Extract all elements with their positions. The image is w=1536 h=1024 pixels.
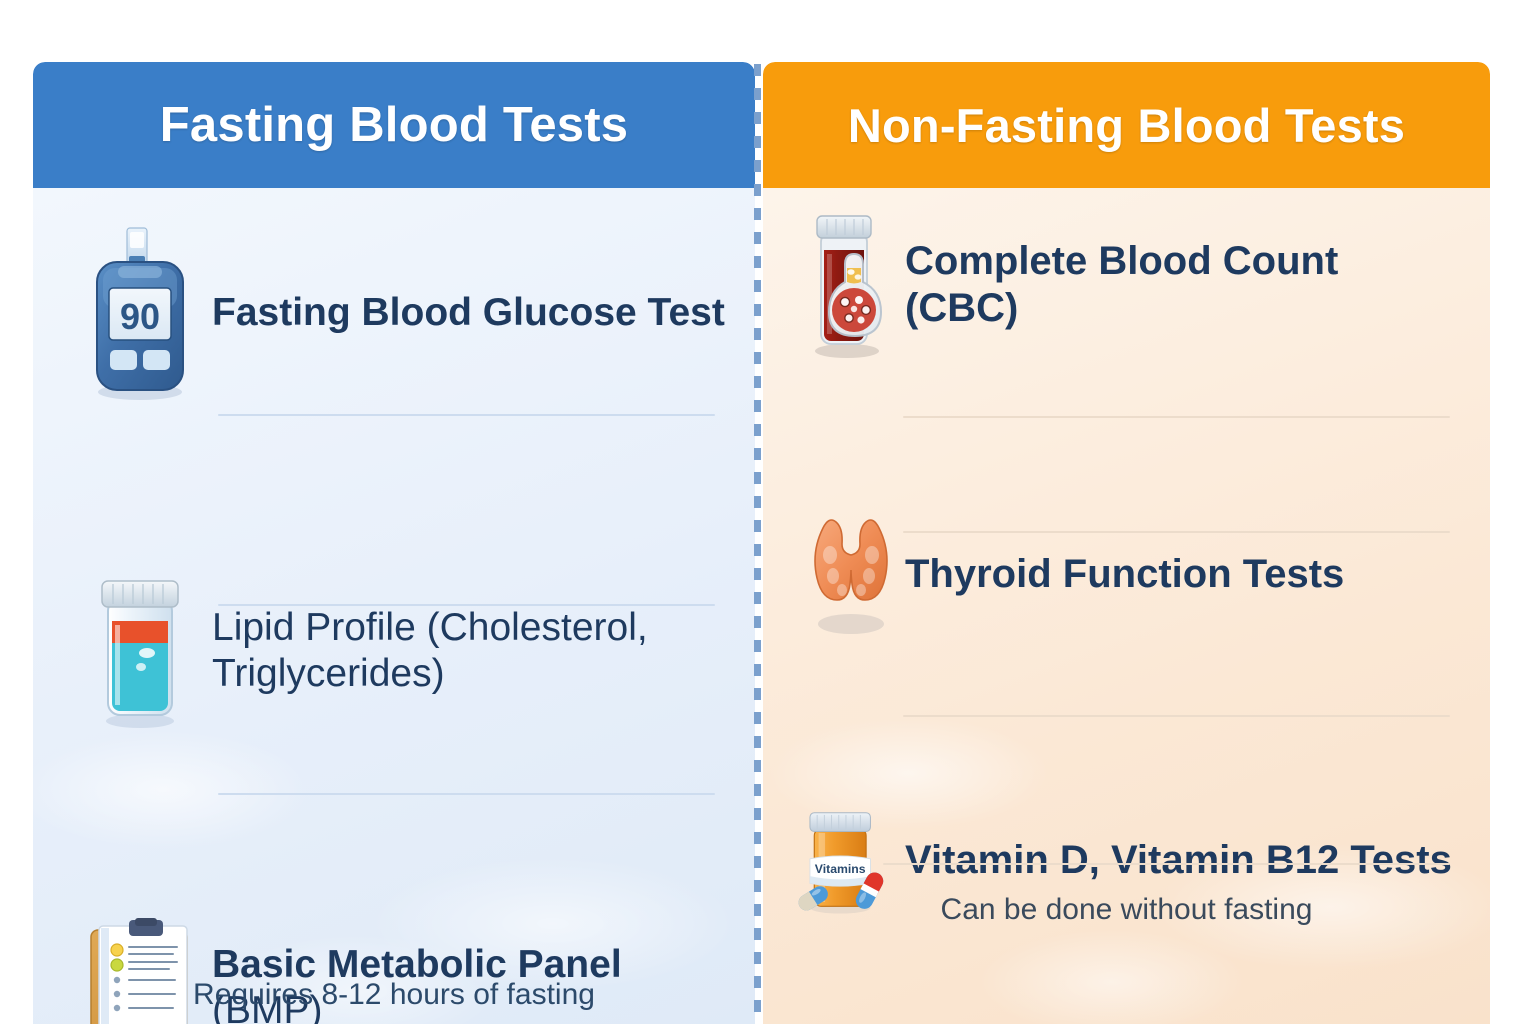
- list-item[interactable]: 90 Fasting Blood Glucose Test: [33, 226, 755, 401]
- fasting-tests-panel: Fasting Blood Tests: [33, 62, 755, 1024]
- list-separator: [218, 414, 715, 416]
- non-fasting-panel-footnote: Can be done without fasting: [763, 893, 1490, 927]
- list-separator: [903, 416, 1450, 418]
- list-item-label-cell: Complete Blood Count (CBC): [905, 210, 1462, 360]
- list-item-label-cell: Thyroid Function Tests: [905, 510, 1462, 640]
- list-separator: [903, 715, 1450, 717]
- list-item-label-cell: Fasting Blood Glucose Test: [212, 226, 727, 401]
- glucose-reading-value: 90: [119, 296, 159, 337]
- thyroid-gland-icon: [797, 510, 905, 640]
- infographic-root: Fasting Blood Tests: [0, 0, 1536, 1024]
- list-item[interactable]: Lipid Profile (Cholesterol, Triglyceride…: [33, 571, 755, 731]
- non-fasting-tests-panel: Non-Fasting Blood Tests: [763, 62, 1490, 1024]
- glucose-meter-icon: 90: [67, 226, 212, 401]
- fasting-panel-title: Fasting Blood Tests: [160, 97, 628, 153]
- non-fasting-panel-title: Non-Fasting Blood Tests: [848, 98, 1405, 153]
- vitamin-bottle-label-text: Vitamins: [815, 862, 866, 876]
- non-fasting-panel-body: Complete Blood Count (CBC): [763, 188, 1490, 1024]
- list-item-label: Complete Blood Count (CBC): [905, 238, 1462, 332]
- list-item-label-cell: Lipid Profile (Cholesterol, Triglyceride…: [212, 571, 727, 731]
- blood-tube-microscope-icon: [797, 210, 905, 360]
- list-item-label: Fasting Blood Glucose Test: [212, 290, 725, 336]
- fasting-panel-footnote: Requires 8-12 hours of fasting: [33, 978, 755, 1012]
- fasting-panel-body: 90 Fasting Blood Glucose Test: [33, 188, 755, 1024]
- non-fasting-panel-header: Non-Fasting Blood Tests: [763, 62, 1490, 188]
- list-item[interactable]: Complete Blood Count (CBC): [763, 210, 1490, 360]
- fasting-panel-header: Fasting Blood Tests: [33, 62, 755, 188]
- list-separator: [218, 604, 715, 606]
- list-item-label: Lipid Profile (Cholesterol, Triglyceride…: [212, 605, 727, 697]
- blood-sample-tube-icon: [67, 571, 212, 731]
- list-item[interactable]: Thyroid Function Tests: [763, 510, 1490, 640]
- list-item-label: Vitamin D, Vitamin B12 Tests: [905, 837, 1452, 884]
- list-separator: [903, 531, 1450, 533]
- list-separator: [218, 793, 715, 795]
- list-item-label: Thyroid Function Tests: [905, 551, 1344, 598]
- panel-divider: [754, 64, 761, 1024]
- list-separator: [883, 863, 1450, 865]
